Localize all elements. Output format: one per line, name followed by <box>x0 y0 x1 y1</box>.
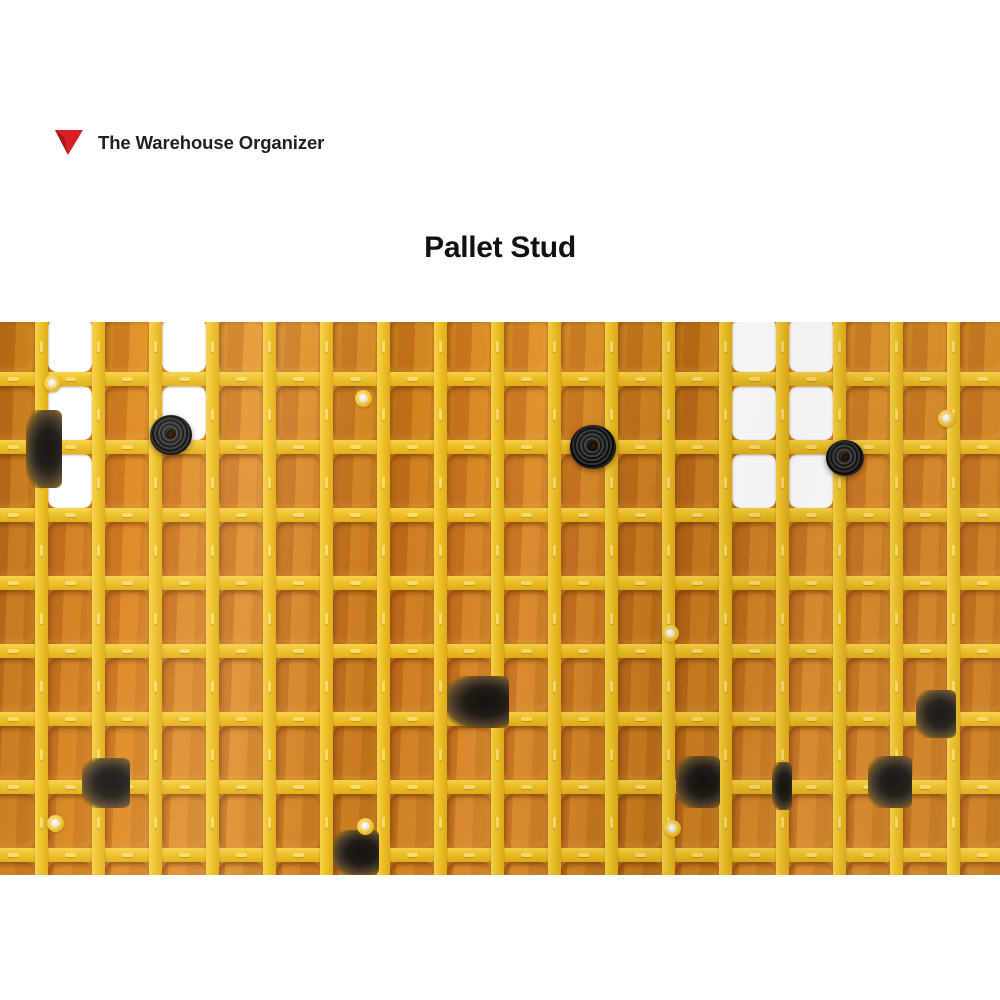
pallet-cell <box>162 522 206 576</box>
pallet-rib-vertical <box>149 322 162 875</box>
pallet-moulding-nub <box>40 749 43 760</box>
pallet-moulding-nub <box>610 613 613 624</box>
pallet-moulding-nub <box>895 613 898 624</box>
pallet-moulding-nub <box>407 785 418 789</box>
pallet-cell <box>48 590 92 644</box>
pallet-moulding-nub <box>806 513 817 517</box>
pallet-cell <box>0 322 35 372</box>
pallet-moulding-nub <box>977 649 988 653</box>
pallet-moulding-nub <box>236 581 247 585</box>
pallet-seethrough-hole <box>732 386 776 440</box>
pallet-cell <box>105 862 149 875</box>
pallet-moulding-nub <box>806 785 817 789</box>
pallet-moulding-nub <box>439 613 442 624</box>
pallet-cell <box>390 726 434 780</box>
pallet-moulding-nub <box>749 649 760 653</box>
pallet-cell <box>903 862 947 875</box>
pallet-moulding-nub <box>781 477 784 488</box>
pallet-moulding-nub <box>553 749 556 760</box>
pallet-moulding-nub <box>920 785 931 789</box>
pallet-moulding-nub <box>268 341 271 352</box>
pallet-moulding-nub <box>578 853 589 857</box>
pallet-moulding-nub <box>806 717 817 721</box>
pallet-moulding-nub <box>8 445 19 449</box>
pallet-cell <box>732 862 776 875</box>
pallet-cell <box>618 658 662 712</box>
pallet-moulding-nub <box>350 377 361 381</box>
pallet-moulding-nub <box>236 513 247 517</box>
stud-edge-upper-left <box>26 410 62 488</box>
pallet-moulding-nub <box>863 377 874 381</box>
pallet-cell <box>675 322 719 372</box>
pallet-moulding-nub <box>65 785 76 789</box>
pallet-moulding-nub <box>553 613 556 624</box>
pallet-cell <box>561 862 605 875</box>
pallet-moulding-nub <box>553 545 556 556</box>
pallet-moulding-nub <box>407 513 418 517</box>
pallet-moulding-nub <box>635 377 646 381</box>
pallet-cell <box>618 522 662 576</box>
pallet-moulding-nub <box>293 513 304 517</box>
pallet-cell <box>846 590 890 644</box>
pallet-moulding-nub <box>211 341 214 352</box>
pallet-cell <box>675 386 719 440</box>
pallet-moulding-nub <box>610 477 613 488</box>
pallet-moulding-nub <box>521 649 532 653</box>
pallet-moulding-nub <box>692 377 703 381</box>
pallet-moulding-nub <box>578 581 589 585</box>
pallet-moulding-nub <box>781 341 784 352</box>
pallet-moulding-nub <box>781 545 784 556</box>
pallet-cell <box>960 522 1000 576</box>
pallet-cell <box>333 590 377 644</box>
pallet-moulding-nub <box>952 341 955 352</box>
pallet-moulding-nub <box>236 377 247 381</box>
pallet-moulding-nub <box>65 377 76 381</box>
red-triangle-logo-icon <box>55 130 85 156</box>
pallet-moulding-nub <box>350 717 361 721</box>
pallet-moulding-nub <box>211 545 214 556</box>
pallet-moulding-nub <box>293 785 304 789</box>
pallet-moulding-nub <box>8 581 19 585</box>
pallet-moulding-nub <box>97 613 100 624</box>
pallet-moulding-nub <box>578 649 589 653</box>
pallet-cell <box>219 322 263 372</box>
pallet-cell <box>732 726 776 780</box>
pallet-cell <box>903 590 947 644</box>
stud-right <box>826 440 864 476</box>
pallet-cell <box>675 454 719 508</box>
pallet-moulding-nub <box>325 477 328 488</box>
pallet-moulding-nub <box>806 377 817 381</box>
pallet-cell <box>960 862 1000 875</box>
stud-body <box>26 410 62 488</box>
stud-highlight-ring <box>826 440 864 476</box>
pallet-cell <box>789 658 833 712</box>
pallet-cell <box>162 862 206 875</box>
pallet-moulding-nub <box>895 545 898 556</box>
pallet-moulding-nub <box>65 581 76 585</box>
pallet-moulding-nub <box>211 477 214 488</box>
pallet-moulding-nub <box>496 749 499 760</box>
pallet-moulding-nub <box>952 613 955 624</box>
pallet-moulding-nub <box>122 581 133 585</box>
pallet-moulding-nub <box>610 409 613 420</box>
pallet-cell <box>0 522 35 576</box>
stud-highlight-ring <box>150 415 192 455</box>
pallet-cell <box>903 522 947 576</box>
pallet-moulding-nub <box>724 681 727 692</box>
pallet-cell <box>390 522 434 576</box>
pallet-seethrough-hole <box>48 322 92 372</box>
pallet-cell <box>447 794 491 848</box>
pallet-moulding-nub <box>667 545 670 556</box>
pallet-cell <box>105 454 149 508</box>
pallet-moulding-nub <box>8 717 19 721</box>
pallet-moulding-nub <box>293 445 304 449</box>
pallet-moulding-nub <box>610 817 613 828</box>
boss-low-left <box>47 815 64 832</box>
pallet-rib-vertical <box>947 322 960 875</box>
pallet-moulding-nub <box>521 717 532 721</box>
pallet-moulding-nub <box>154 749 157 760</box>
pallet-moulding-nub <box>439 681 442 692</box>
pallet-moulding-nub <box>350 649 361 653</box>
pallet-moulding-nub <box>154 817 157 828</box>
pallet-moulding-nub <box>122 377 133 381</box>
pallet-moulding-nub <box>268 817 271 828</box>
pallet-moulding-nub <box>236 649 247 653</box>
pallet-moulding-nub <box>439 545 442 556</box>
pallet-cell <box>903 454 947 508</box>
pallet-moulding-nub <box>692 717 703 721</box>
pallet-moulding-nub <box>464 785 475 789</box>
pallet-moulding-nub <box>977 513 988 517</box>
pallet-moulding-nub <box>464 581 475 585</box>
pallet-cell <box>846 862 890 875</box>
stud-edge-lower-mid <box>333 830 379 875</box>
pallet-moulding-nub <box>952 749 955 760</box>
pallet-moulding-nub <box>325 341 328 352</box>
pallet-cell <box>789 522 833 576</box>
pallet-rib-vertical <box>605 322 618 875</box>
pallet-cell <box>504 862 548 875</box>
pallet-moulding-nub <box>382 613 385 624</box>
pallet-rib-vertical <box>434 322 447 875</box>
pallet-moulding-nub <box>920 377 931 381</box>
pallet-moulding-nub <box>236 445 247 449</box>
pallet-cell <box>504 386 548 440</box>
pallet-moulding-nub <box>407 649 418 653</box>
pallet-moulding-nub <box>806 581 817 585</box>
pallet-cell <box>618 386 662 440</box>
pallet-moulding-nub <box>464 649 475 653</box>
pallet-moulding-nub <box>838 613 841 624</box>
product-page: The Warehouse Organizer Pallet Stud <box>0 0 1000 1000</box>
pallet-cell <box>789 862 833 875</box>
pallet-rib-vertical <box>833 322 846 875</box>
pallet-moulding-nub <box>122 717 133 721</box>
pallet-cell <box>162 590 206 644</box>
pallet-cell <box>276 454 320 508</box>
pallet-cell <box>561 658 605 712</box>
pallet-cell <box>903 322 947 372</box>
pallet-moulding-nub <box>154 477 157 488</box>
pallet-moulding-nub <box>293 581 304 585</box>
pallet-moulding-nub <box>122 445 133 449</box>
pallet-cell <box>561 726 605 780</box>
pallet-moulding-nub <box>977 853 988 857</box>
pallet-moulding-nub <box>407 717 418 721</box>
pallet-cell <box>447 590 491 644</box>
pallet-moulding-nub <box>268 749 271 760</box>
pallet-moulding-nub <box>895 409 898 420</box>
pallet-moulding-nub <box>65 717 76 721</box>
pallet-cell <box>333 322 377 372</box>
pallet-cell <box>276 726 320 780</box>
pallet-moulding-nub <box>407 445 418 449</box>
pallet-moulding-nub <box>863 513 874 517</box>
pallet-moulding-nub <box>863 581 874 585</box>
stud-edge-far-right <box>916 690 956 738</box>
pallet-moulding-nub <box>553 681 556 692</box>
pallet-cell <box>333 454 377 508</box>
pallet-moulding-nub <box>293 717 304 721</box>
pallet-cell <box>276 322 320 372</box>
pallet-moulding-nub <box>610 545 613 556</box>
pallet-cell <box>105 322 149 372</box>
pallet-seethrough-hole <box>789 322 833 372</box>
pallet-moulding-nub <box>635 649 646 653</box>
pallet-cell <box>48 862 92 875</box>
pallet-cell <box>561 322 605 372</box>
pallet-moulding-nub <box>439 749 442 760</box>
pallet-moulding-nub <box>496 817 499 828</box>
pallet-moulding-nub <box>122 853 133 857</box>
pallet-moulding-nub <box>692 853 703 857</box>
pallet-moulding-nub <box>781 817 784 828</box>
pallet-seethrough-hole <box>162 322 206 372</box>
pallet-cell <box>105 522 149 576</box>
pallet-cell <box>219 522 263 576</box>
pallet-moulding-nub <box>895 817 898 828</box>
pallet-moulding-nub <box>977 581 988 585</box>
pallet-moulding-nub <box>806 853 817 857</box>
pallet-moulding-nub <box>838 341 841 352</box>
pallet-moulding-nub <box>40 817 43 828</box>
pallet-moulding-nub <box>211 613 214 624</box>
stud-center <box>570 425 616 469</box>
pallet-cell <box>675 522 719 576</box>
pallet-cell <box>276 658 320 712</box>
pallet-moulding-nub <box>749 513 760 517</box>
pallet-cell <box>504 794 548 848</box>
pallet-cell <box>219 862 263 875</box>
pallet-cell <box>0 658 35 712</box>
pallet-cell <box>333 658 377 712</box>
pallet-moulding-nub <box>8 513 19 517</box>
pallet-cell <box>162 794 206 848</box>
pallet-cell <box>732 590 776 644</box>
pallet-moulding-nub <box>838 681 841 692</box>
pallet-rib-vertical <box>320 322 333 875</box>
pallet-cell <box>276 794 320 848</box>
pallet-moulding-nub <box>40 545 43 556</box>
pallet-moulding-nub <box>806 445 817 449</box>
pallet-cell <box>732 658 776 712</box>
pallet-moulding-nub <box>464 445 475 449</box>
pallet-moulding-nub <box>749 785 760 789</box>
pallet-moulding-nub <box>65 513 76 517</box>
pallet-cell <box>960 726 1000 780</box>
pallet-cell <box>48 522 92 576</box>
pallet-cell <box>732 522 776 576</box>
pallet-moulding-nub <box>439 817 442 828</box>
stud-edge-lower-left <box>82 758 130 808</box>
pallet-cell <box>447 322 491 372</box>
stud-body <box>447 676 509 728</box>
pallet-moulding-nub <box>724 817 727 828</box>
pallet-moulding-nub <box>521 853 532 857</box>
pallet-moulding-nub <box>863 853 874 857</box>
pallet-seethrough-hole <box>732 322 776 372</box>
pallet-cell <box>105 658 149 712</box>
pallet-cell <box>390 794 434 848</box>
pallet-moulding-nub <box>749 581 760 585</box>
pallet-moulding-nub <box>464 377 475 381</box>
pallet-seethrough-hole <box>732 454 776 508</box>
pallet-moulding-nub <box>635 445 646 449</box>
pallet-moulding-nub <box>521 377 532 381</box>
pallet-moulding-nub <box>382 409 385 420</box>
pallet-moulding-nub <box>838 477 841 488</box>
pallet-cell <box>846 322 890 372</box>
pallet-moulding-nub <box>496 341 499 352</box>
pallet-moulding-nub <box>407 853 418 857</box>
pallet-moulding-nub <box>553 477 556 488</box>
pallet-cell <box>219 658 263 712</box>
pallet-cell <box>504 590 548 644</box>
pallet-moulding-nub <box>179 853 190 857</box>
pallet-moulding-nub <box>635 717 646 721</box>
boss-low-center <box>357 818 374 835</box>
pallet-moulding-nub <box>407 581 418 585</box>
pallet-moulding-nub <box>692 513 703 517</box>
pallet-moulding-nub <box>122 649 133 653</box>
pallet-moulding-nub <box>667 681 670 692</box>
pallet-moulding-nub <box>578 717 589 721</box>
pallet-moulding-nub <box>749 853 760 857</box>
pallet-moulding-nub <box>40 681 43 692</box>
pallet-moulding-nub <box>211 749 214 760</box>
pallet-moulding-nub <box>610 681 613 692</box>
pallet-moulding-nub <box>97 545 100 556</box>
pallet-cell <box>390 862 434 875</box>
pallet-moulding-nub <box>407 377 418 381</box>
pallet-cell <box>276 590 320 644</box>
stud-edge-mid-center <box>447 676 509 728</box>
pallet-moulding-nub <box>920 649 931 653</box>
pallet-moulding-nub <box>578 377 589 381</box>
pallet-moulding-nub <box>838 545 841 556</box>
pallet-moulding-nub <box>838 409 841 420</box>
pallet-cell <box>618 794 662 848</box>
pallet-moulding-nub <box>268 409 271 420</box>
pallet-cell <box>846 658 890 712</box>
pallet-moulding-nub <box>325 613 328 624</box>
pallet-moulding-nub <box>65 445 76 449</box>
pallet-cell <box>675 658 719 712</box>
pallet-moulding-nub <box>350 513 361 517</box>
pallet-moulding-nub <box>977 445 988 449</box>
pallet-cell <box>219 454 263 508</box>
pallet-moulding-nub <box>863 717 874 721</box>
product-photo <box>0 322 1000 875</box>
pallet-cell <box>960 590 1000 644</box>
pallet-rib-vertical <box>548 322 561 875</box>
pallet-cell <box>561 794 605 848</box>
pallet-moulding-nub <box>236 785 247 789</box>
brand-lockup[interactable]: The Warehouse Organizer <box>55 130 324 156</box>
pallet-cell <box>390 386 434 440</box>
pallet-moulding-nub <box>382 477 385 488</box>
stud-body <box>772 762 792 810</box>
pallet-cell <box>48 658 92 712</box>
pallet-moulding-nub <box>667 409 670 420</box>
pallet-moulding-nub <box>667 749 670 760</box>
pallet-rib-vertical <box>377 322 390 875</box>
pallet-moulding-nub <box>749 717 760 721</box>
pallet-moulding-nub <box>65 649 76 653</box>
pallet-moulding-nub <box>382 817 385 828</box>
pallet-moulding-nub <box>382 341 385 352</box>
pallet-moulding-nub <box>8 649 19 653</box>
pallet-moulding-nub <box>838 749 841 760</box>
pallet-moulding-nub <box>97 477 100 488</box>
pallet-moulding-nub <box>952 817 955 828</box>
pallet-moulding-nub <box>920 445 931 449</box>
pallet-moulding-nub <box>553 409 556 420</box>
pallet-moulding-nub <box>211 817 214 828</box>
pallet-moulding-nub <box>692 649 703 653</box>
pallet-moulding-nub <box>667 613 670 624</box>
pallet-cell <box>219 590 263 644</box>
pallet-rib-vertical <box>662 322 675 875</box>
pallet-cell <box>276 862 320 875</box>
pallet-moulding-nub <box>325 409 328 420</box>
pallet-moulding-nub <box>521 581 532 585</box>
boss-low-right <box>664 820 681 837</box>
pallet-moulding-nub <box>724 477 727 488</box>
pallet-moulding-nub <box>781 681 784 692</box>
pallet-cell <box>504 726 548 780</box>
boss-top-center <box>355 390 372 407</box>
pallet-moulding-nub <box>749 377 760 381</box>
pallet-moulding-nub <box>920 513 931 517</box>
pallet-cell <box>846 386 890 440</box>
pallet-cell <box>675 862 719 875</box>
pallet-cell <box>447 862 491 875</box>
pallet-cell <box>789 590 833 644</box>
pallet-cell <box>219 726 263 780</box>
pallet-moulding-nub <box>724 409 727 420</box>
pallet-cell <box>447 726 491 780</box>
pallet-moulding-nub <box>179 717 190 721</box>
stud-highlight-ring <box>570 425 616 469</box>
stud-body <box>333 830 379 875</box>
stud-edge-lower-right2 <box>772 762 792 810</box>
pallet-cell <box>846 522 890 576</box>
